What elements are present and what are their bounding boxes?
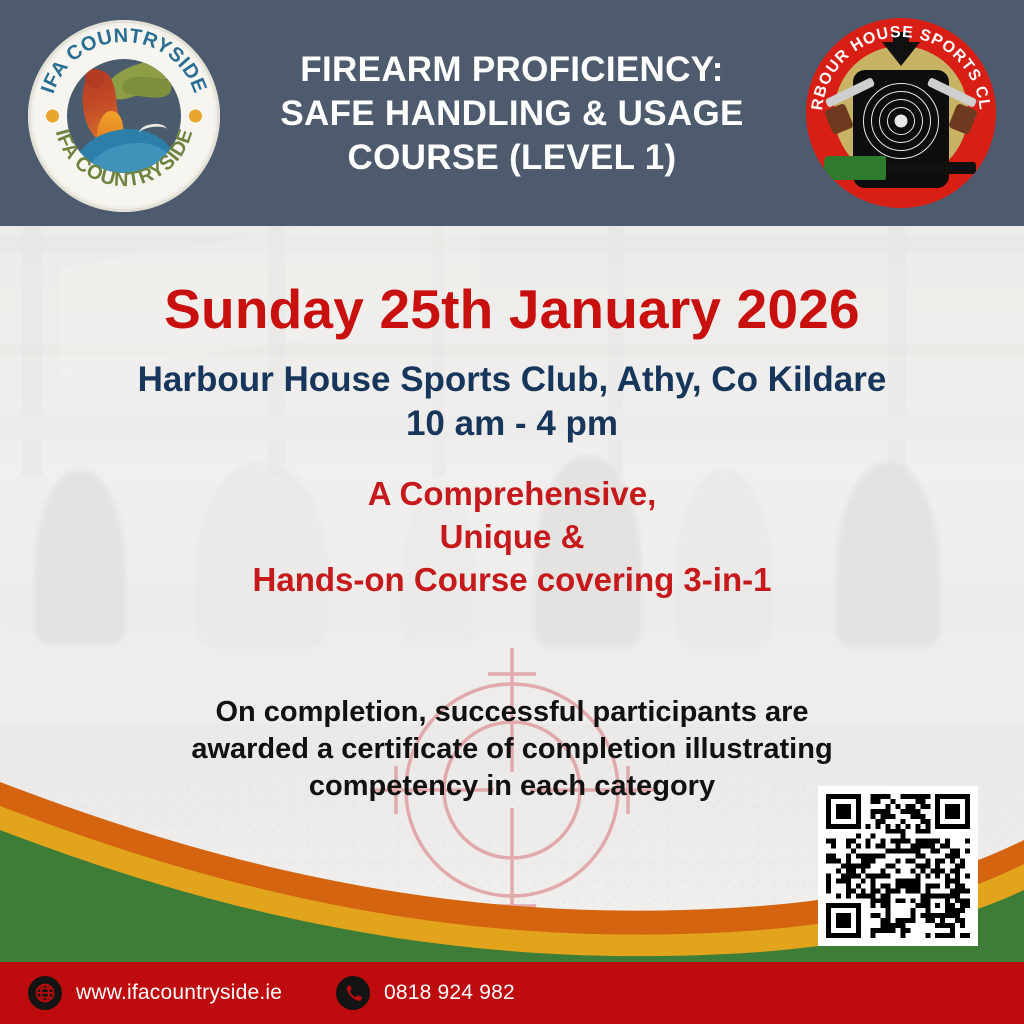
title-line-2: SAFE HANDLING & USAGE	[248, 92, 776, 136]
certificate-line-1: On completion, successful participants a…	[0, 694, 1024, 731]
venue-time: 10 am - 4 pm	[0, 402, 1024, 446]
harbour-house-sports-club-logo: HARBOUR HOUSE SPORTS CLUB	[806, 18, 996, 208]
qr-code-image[interactable]	[826, 794, 970, 938]
globe-icon	[28, 976, 62, 1010]
svg-text:IFA COUNTRYSIDE: IFA COUNTRYSIDE	[51, 126, 198, 191]
phone-icon	[336, 976, 370, 1010]
tagline-line-2: Unique &	[0, 515, 1024, 558]
ifa-text-bottom: IFA COUNTRYSIDE	[51, 126, 198, 191]
ifa-countryside-logo: IFA COUNTRYSIDE IFA COUNTRYSIDE	[28, 20, 220, 212]
page-title: FIREARM PROFICIENCY: SAFE HANDLING & USA…	[248, 48, 776, 180]
phone-text: 0818 924 982	[384, 981, 515, 1005]
certificate-line-2: awarded a certificate of completion illu…	[0, 731, 1024, 768]
header-bar: FIREARM PROFICIENCY: SAFE HANDLING & USA…	[0, 0, 1024, 226]
footer-website[interactable]: www.ifacountryside.ie	[28, 976, 282, 1010]
ifa-text-top: IFA COUNTRYSIDE	[37, 25, 211, 96]
hh-text-arc: HARBOUR HOUSE SPORTS CLUB	[806, 18, 993, 111]
venue-line-1: Harbour House Sports Club, Athy, Co Kild…	[0, 358, 1024, 402]
website-text: www.ifacountryside.ie	[76, 981, 282, 1005]
poster-root: FIREARM PROFICIENCY: SAFE HANDLING & USA…	[0, 0, 1024, 1024]
course-tagline: A Comprehensive, Unique & Hands-on Cours…	[0, 472, 1024, 601]
svg-text:HARBOUR HOUSE SPORTS CLUB: HARBOUR HOUSE SPORTS CLUB	[806, 18, 993, 111]
svg-text:IFA COUNTRYSIDE: IFA COUNTRYSIDE	[37, 25, 211, 96]
title-line-1: FIREARM PROFICIENCY:	[248, 48, 776, 92]
title-line-3: COURSE (LEVEL 1)	[248, 136, 776, 180]
footer-phone[interactable]: 0818 924 982	[336, 976, 515, 1010]
qr-code[interactable]	[818, 786, 978, 946]
event-venue: Harbour House Sports Club, Athy, Co Kild…	[0, 358, 1024, 446]
hh-logo-text: HARBOUR HOUSE SPORTS CLUB	[806, 18, 996, 208]
event-date: Sunday 25th January 2026	[0, 278, 1024, 340]
ifa-logo-text: IFA COUNTRYSIDE IFA COUNTRYSIDE	[28, 20, 220, 212]
tagline-line-1: A Comprehensive,	[0, 472, 1024, 515]
footer-bar: www.ifacountryside.ie 0818 924 982	[0, 962, 1024, 1024]
tagline-line-3: Hands-on Course covering 3-in-1	[0, 558, 1024, 601]
